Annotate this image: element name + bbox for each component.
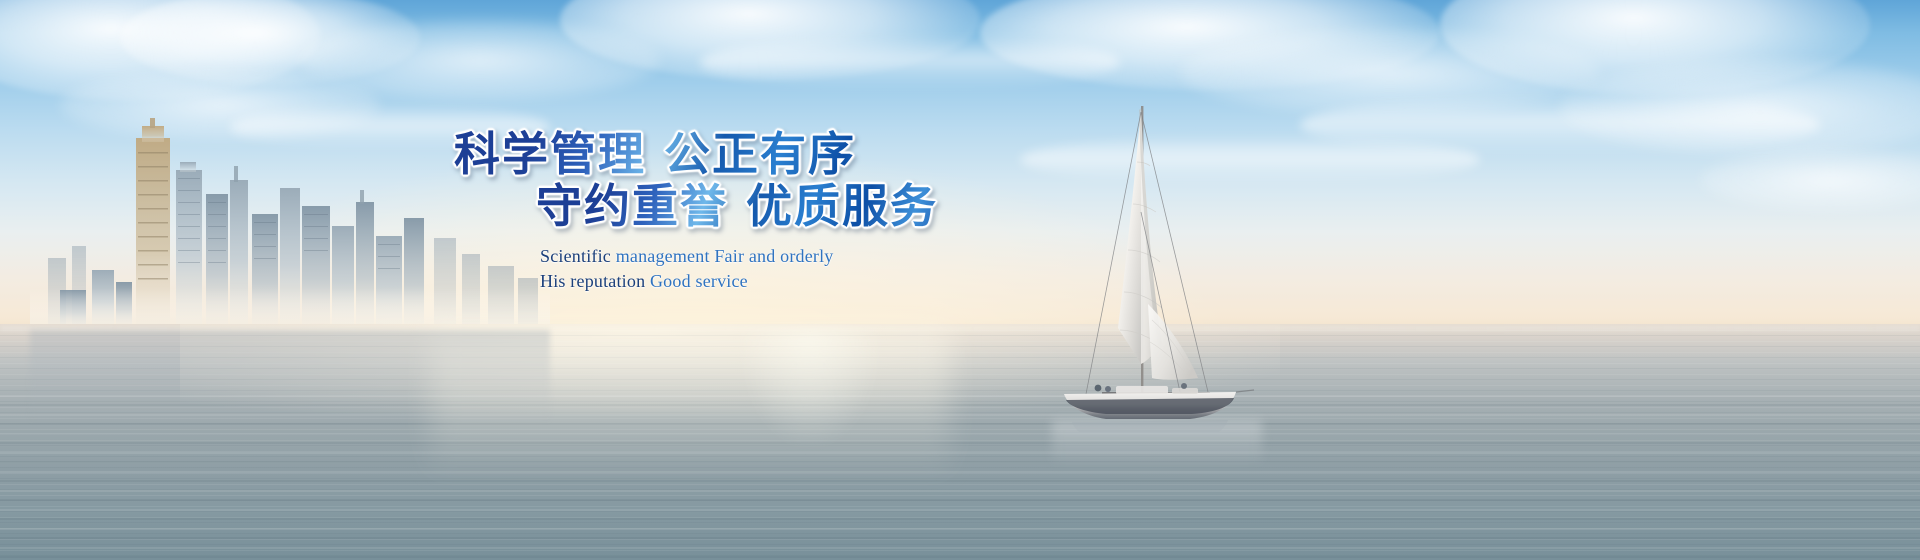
city-reflection [30, 330, 550, 440]
subtitle-block: Scientific management Fair and orderly H… [540, 244, 834, 294]
subtitle-line-1-part-1: Scientific [540, 246, 616, 266]
headline-line-2: 守约重誉 优质服务 [536, 180, 960, 232]
hero-banner: 科学管理 公正有序 守约重誉 优质服务 Scientific managemen… [0, 0, 1920, 560]
sailboat [1040, 92, 1280, 432]
lens-flare [735, 330, 885, 450]
subtitle-line-1: Scientific management Fair and orderly [540, 244, 834, 269]
subtitle-line-2: His reputation Good service [540, 269, 834, 294]
subtitle-line-2-part-2: Good service [650, 271, 748, 291]
boat-reflection [1052, 420, 1262, 466]
headline-block: 科学管理 公正有序 守约重誉 优质服务 [440, 128, 960, 232]
headline-line-1: 科学管理 公正有序 [454, 128, 960, 180]
subtitle-line-1-part-2: management Fair and orderly [616, 246, 834, 266]
subtitle-line-2-part-1: His reputation [540, 271, 650, 291]
